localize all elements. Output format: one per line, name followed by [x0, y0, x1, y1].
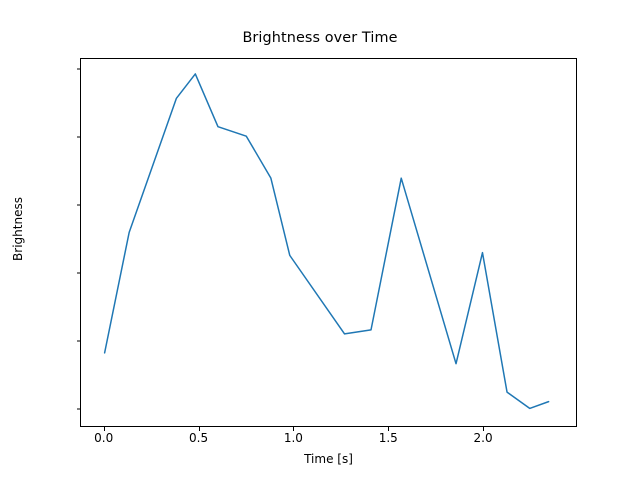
chart-figure: Brightness over Time Brightness Time [s]…: [0, 0, 640, 480]
x-tick-mark: [199, 427, 200, 431]
data-series-line: [105, 74, 549, 408]
x-tick-label: 0.0: [94, 431, 113, 445]
x-axis-label: Time [s]: [80, 452, 577, 466]
x-tick-label: 0.5: [189, 431, 208, 445]
x-tick-mark: [483, 427, 484, 431]
y-axis-label: Brightness: [11, 129, 25, 329]
x-tick-label: 1.5: [379, 431, 398, 445]
x-tick-label: 2.0: [474, 431, 493, 445]
plot-axes-area: [80, 58, 577, 427]
line-plot: [81, 59, 576, 426]
x-tick-mark: [293, 427, 294, 431]
chart-title: Brightness over Time: [0, 30, 640, 46]
x-tick-mark: [104, 427, 105, 431]
x-tick-label: 1.0: [284, 431, 303, 445]
x-tick-mark: [388, 427, 389, 431]
